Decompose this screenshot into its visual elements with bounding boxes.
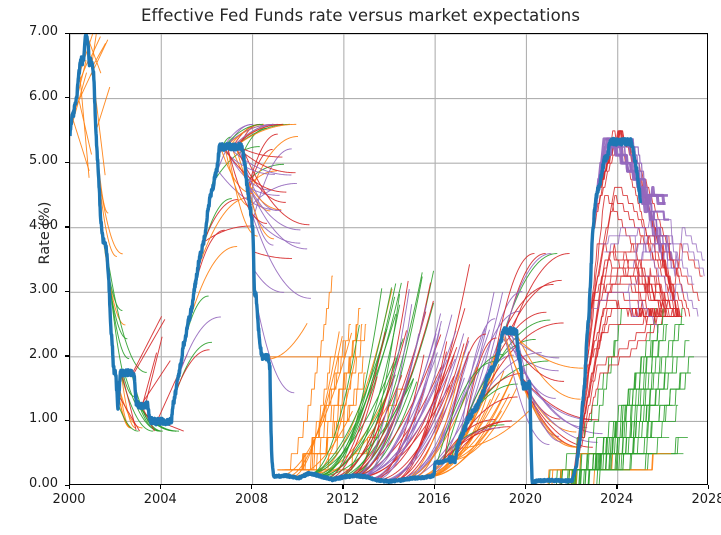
x-tick-mark bbox=[434, 485, 435, 489]
x-tick-mark bbox=[342, 485, 343, 489]
x-tick-label: 2028 bbox=[678, 492, 721, 507]
y-tick-label: 5.00 bbox=[16, 153, 58, 168]
y-tick-mark bbox=[65, 291, 69, 292]
y-axis-label: Rate (%) bbox=[37, 173, 53, 293]
x-tick-label: 2000 bbox=[39, 492, 99, 507]
x-tick-mark bbox=[525, 485, 526, 489]
x-tick-mark bbox=[251, 485, 252, 489]
x-tick-label: 2020 bbox=[495, 492, 555, 507]
plot-area bbox=[69, 33, 708, 485]
x-tick-label: 2016 bbox=[404, 492, 464, 507]
y-tick-label: 1.00 bbox=[16, 411, 58, 426]
series-lines bbox=[70, 34, 705, 485]
x-axis-label: Date bbox=[0, 512, 721, 528]
x-tick-mark bbox=[616, 485, 617, 489]
x-tick-mark bbox=[708, 485, 709, 489]
y-tick-label: 6.00 bbox=[16, 89, 58, 104]
x-tick-label: 2004 bbox=[130, 492, 190, 507]
y-tick-mark bbox=[65, 420, 69, 421]
x-tick-label: 2012 bbox=[313, 492, 373, 507]
y-tick-mark bbox=[65, 226, 69, 227]
x-tick-mark bbox=[160, 485, 161, 489]
x-tick-label: 2008 bbox=[222, 492, 282, 507]
plot-canvas bbox=[70, 34, 708, 485]
y-tick-label: 2.00 bbox=[16, 347, 58, 362]
chart-title: Effective Fed Funds rate versus market e… bbox=[0, 6, 721, 25]
x-tick-mark bbox=[69, 485, 70, 489]
y-tick-mark bbox=[65, 355, 69, 356]
y-tick-mark bbox=[65, 162, 69, 163]
y-tick-label: 7.00 bbox=[16, 24, 58, 39]
chart-figure: Effective Fed Funds rate versus market e… bbox=[0, 0, 721, 535]
x-tick-label: 2024 bbox=[587, 492, 647, 507]
y-tick-mark bbox=[65, 97, 69, 98]
y-tick-label: 0.00 bbox=[16, 476, 58, 491]
y-tick-mark bbox=[65, 33, 69, 34]
